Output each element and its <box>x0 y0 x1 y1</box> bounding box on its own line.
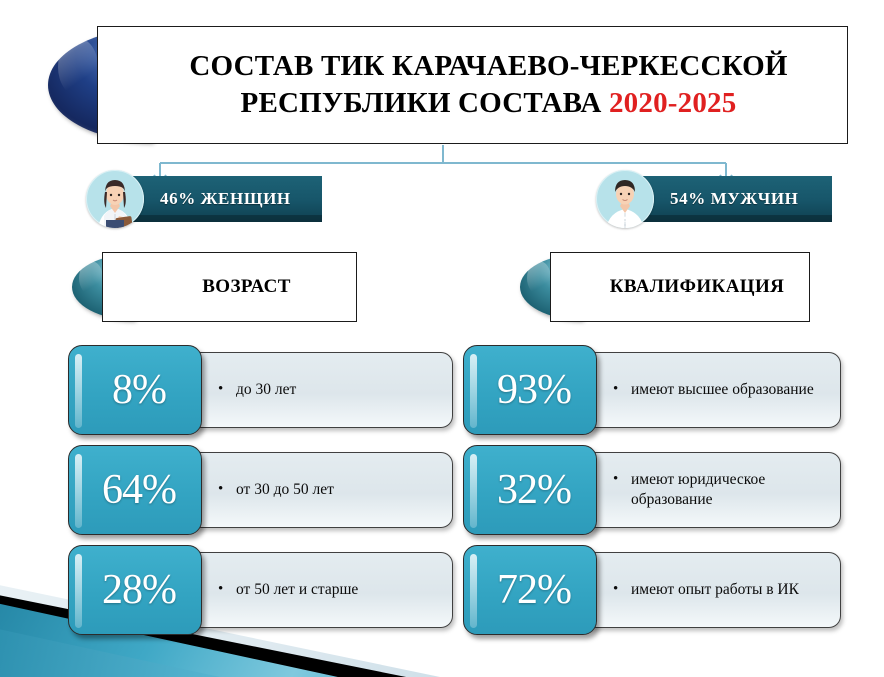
stat-row: 32% имеют юридическое образование <box>463 445 841 535</box>
stat-label-text: имеют юридическое образование <box>585 470 840 510</box>
title-block: СОСТАВ ТИК КАРАЧАЕВО-ЧЕРКЕССКОЙ РЕСПУБЛИ… <box>48 26 848 144</box>
stat-percent-value: 32% <box>489 469 571 511</box>
stat-row: 93% имеют высшее образование <box>463 345 841 435</box>
stat-label-box: от 30 до 50 лет <box>190 452 453 528</box>
stat-label-text: имеют опыт работы в ИК <box>585 580 809 600</box>
stat-percent-badge: 72% <box>463 545 597 635</box>
page-title: СОСТАВ ТИК КАРАЧАЕВО-ЧЕРКЕССКОЙ РЕСПУБЛИ… <box>98 48 847 122</box>
section-header-age: ВОЗРАСТ <box>72 252 357 322</box>
woman-avatar-icon <box>86 170 144 228</box>
title-box: СОСТАВ ТИК КАРАЧАЕВО-ЧЕРКЕССКОЙ РЕСПУБЛИ… <box>97 26 848 144</box>
age-header-label: ВОЗРАСТ <box>168 276 291 298</box>
section-header-qualification: КВАЛИФИКАЦИЯ <box>520 252 810 322</box>
stat-percent-value: 8% <box>104 369 166 411</box>
qualification-header-label: КВАЛИФИКАЦИЯ <box>576 276 785 298</box>
stat-percent-badge: 93% <box>463 345 597 435</box>
page-title-years: 2020-2025 <box>609 87 736 119</box>
women-label: 46% ЖЕНЩИН <box>122 189 313 209</box>
stat-row: 28% от 50 лет и старше <box>68 545 453 635</box>
age-header-box: ВОЗРАСТ <box>102 252 357 322</box>
stat-label-text: от 30 до 50 лет <box>190 480 344 500</box>
stat-label-text: от 50 лет и старше <box>190 580 368 600</box>
stat-percent-badge: 32% <box>463 445 597 535</box>
stat-percent-value: 72% <box>489 569 571 611</box>
stat-percent-badge: 28% <box>68 545 202 635</box>
stat-label-text: до 30 лет <box>190 380 306 400</box>
stat-label-box: до 30 лет <box>190 352 453 428</box>
stat-label-box: от 50 лет и старше <box>190 552 453 628</box>
stat-label-text: имеют высшее образование <box>585 380 824 400</box>
qualification-stats-column: 93% имеют высшее образование 32% имеют ю… <box>463 345 841 645</box>
age-stats-column: 8% до 30 лет 64% от 30 до 50 лет 28% от … <box>68 345 453 645</box>
qualification-header-box: КВАЛИФИКАЦИЯ <box>550 252 810 322</box>
men-banner: 54% МУЖЧИН <box>632 176 832 222</box>
stat-label-box: имеют высшее образование <box>585 352 841 428</box>
stat-percent-value: 64% <box>94 469 176 511</box>
stat-label-box: имеют опыт работы в ИК <box>585 552 841 628</box>
man-avatar-icon <box>596 170 654 228</box>
stat-percent-value: 93% <box>489 369 571 411</box>
stat-percent-badge: 8% <box>68 345 202 435</box>
women-banner: 46% ЖЕНЩИН <box>122 176 322 222</box>
stat-percent-value: 28% <box>94 569 176 611</box>
stat-label-box: имеют юридическое образование <box>585 452 841 528</box>
stat-percent-badge: 64% <box>68 445 202 535</box>
stat-row: 72% имеют опыт работы в ИК <box>463 545 841 635</box>
stat-row: 64% от 30 до 50 лет <box>68 445 453 535</box>
men-label: 54% МУЖЧИН <box>632 189 821 209</box>
stat-row: 8% до 30 лет <box>68 345 453 435</box>
